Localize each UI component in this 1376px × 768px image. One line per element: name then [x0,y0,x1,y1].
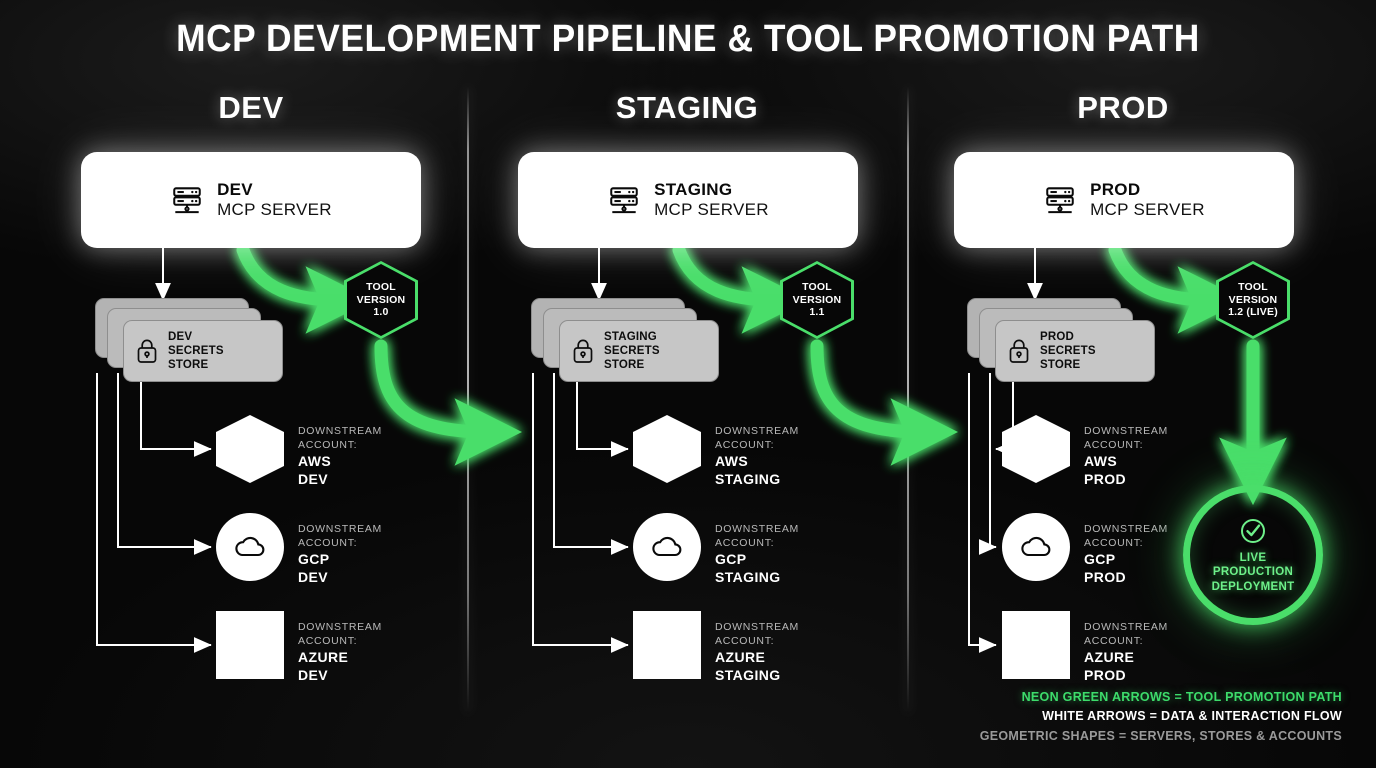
caption-line-2: ACCOUNT: [715,537,799,551]
caption-line-2: ACCOUNT: [298,537,382,551]
account-env: PROD [1084,666,1168,684]
server-card-staging[interactable]: STAGING MCP SERVER [518,152,858,248]
caption-line-1: DOWNSTREAM [1084,523,1168,537]
caption-line-2: ACCOUNT: [1084,537,1168,551]
secrets-line-3: STORE [1040,358,1096,372]
secrets-store-label: STAGING SECRETS STORE [604,330,660,373]
account-provider: AZURE [715,648,799,666]
diagram-canvas: MCP DEVELOPMENT PIPELINE & TOOL PROMOTIO… [0,0,1376,768]
tool-line-1: TOOL [366,281,396,293]
column-divider-1 [467,86,469,714]
account-env: DEV [298,568,382,586]
server-rack-icon [1043,183,1077,217]
account-env: PROD [1084,470,1168,488]
account-caption: DOWNSTREAM ACCOUNT: AZURE DEV [298,621,382,685]
tool-line-1: TOOL [1238,281,1268,293]
caption-line-1: DOWNSTREAM [715,523,799,537]
secrets-line-2: SECRETS [1040,344,1096,358]
tool-line-2: VERSION [793,294,842,306]
caption-line-2: ACCOUNT: [1084,439,1168,453]
caption-line-2: ACCOUNT: [715,635,799,649]
server-rack-icon [607,183,641,217]
account-caption: DOWNSTREAM ACCOUNT: GCP STAGING [715,523,799,587]
secrets-store-prod[interactable]: PROD SECRETS STORE [967,298,1157,384]
caption-line-1: DOWNSTREAM [1084,621,1168,635]
account-caption: DOWNSTREAM ACCOUNT: GCP PROD [1084,523,1168,587]
secrets-card-front: PROD SECRETS STORE [995,320,1155,382]
secrets-line-3: STORE [168,358,224,372]
secrets-line-2: SECRETS [168,344,224,358]
column-divider-2 [907,86,909,714]
secrets-line-1: STAGING [604,330,660,344]
account-provider: GCP [298,550,382,568]
tool-version-staging[interactable]: TOOL VERSION 1.1 [780,261,854,339]
check-circle-icon [1238,516,1268,546]
aws-hexagon-icon [216,415,284,483]
server-card-subtitle: MCP SERVER [654,200,769,220]
secrets-store-staging[interactable]: STAGING SECRETS STORE [531,298,721,384]
secrets-card-front: STAGING SECRETS STORE [559,320,719,382]
server-card-dev[interactable]: DEV MCP SERVER [81,152,421,248]
azure-square-icon [1002,611,1070,679]
secrets-card-front: DEV SECRETS STORE [123,320,283,382]
caption-line-1: DOWNSTREAM [298,425,382,439]
account-caption: DOWNSTREAM ACCOUNT: AWS PROD [1084,425,1168,489]
account-caption: DOWNSTREAM ACCOUNT: AWS STAGING [715,425,799,489]
tool-version-number: 1.1 [809,306,824,318]
aws-hexagon-icon [633,415,701,483]
caption-line-1: DOWNSTREAM [298,523,382,537]
secrets-line-2: SECRETS [604,344,660,358]
secrets-store-dev[interactable]: DEV SECRETS STORE [95,298,285,384]
account-provider: AZURE [298,648,382,666]
server-card-title: DEV [217,180,332,200]
account-caption: DOWNSTREAM ACCOUNT: AZURE STAGING [715,621,799,685]
cloud-glyph [650,534,684,560]
tool-version-dev[interactable]: TOOL VERSION 1.0 [344,261,418,339]
account-provider: AWS [298,452,382,470]
lock-icon [135,338,159,364]
server-rack-icon [170,183,204,217]
azure-square-icon [216,611,284,679]
tool-line-2: VERSION [1229,294,1278,306]
secrets-store-label: PROD SECRETS STORE [1040,330,1096,373]
live-production-deployment-badge[interactable]: LIVE PRODUCTION DEPLOYMENT [1183,485,1323,625]
account-provider: GCP [1084,550,1168,568]
server-card-subtitle: MCP SERVER [217,200,332,220]
live-line-2: PRODUCTION [1213,565,1293,579]
account-caption: DOWNSTREAM ACCOUNT: GCP DEV [298,523,382,587]
legend-item-shapes: GEOMETRIC SHAPES = SERVERS, STORES & ACC… [980,727,1342,746]
secrets-line-1: DEV [168,330,224,344]
tool-line-2: VERSION [357,294,406,306]
gcp-cloud-icon [1002,513,1070,581]
caption-line-2: ACCOUNT: [298,635,382,649]
caption-line-2: ACCOUNT: [298,439,382,453]
caption-line-1: DOWNSTREAM [715,425,799,439]
account-provider: AWS [715,452,799,470]
account-env: STAGING [715,568,799,586]
legend: NEON GREEN ARROWS = TOOL PROMOTION PATH … [980,688,1342,746]
secrets-store-label: DEV SECRETS STORE [168,330,224,373]
tool-version-number: 1.2 (LIVE) [1228,306,1278,318]
server-card-title: STAGING [654,180,769,200]
cloud-glyph [233,534,267,560]
column-header-dev: DEV [101,90,401,126]
account-env: STAGING [715,666,799,684]
lock-icon [571,338,595,364]
tool-version-prod[interactable]: TOOL VERSION 1.2 (LIVE) [1216,261,1290,339]
live-line-1: LIVE [1240,551,1267,565]
secrets-line-1: PROD [1040,330,1096,344]
gcp-cloud-icon [216,513,284,581]
account-env: STAGING [715,470,799,488]
lock-icon [1007,338,1031,364]
account-env: DEV [298,470,382,488]
caption-line-1: DOWNSTREAM [1084,425,1168,439]
server-card-title: PROD [1090,180,1205,200]
caption-line-2: ACCOUNT: [1084,635,1168,649]
tool-line-1: TOOL [802,281,832,293]
caption-line-2: ACCOUNT: [715,439,799,453]
account-env: PROD [1084,568,1168,586]
server-card-prod[interactable]: PROD MCP SERVER [954,152,1294,248]
account-provider: AZURE [1084,648,1168,666]
account-provider: AWS [1084,452,1168,470]
account-provider: GCP [715,550,799,568]
account-caption: DOWNSTREAM ACCOUNT: AZURE PROD [1084,621,1168,685]
column-header-prod: PROD [973,90,1273,126]
caption-line-1: DOWNSTREAM [715,621,799,635]
tool-version-number: 1.0 [373,306,388,318]
page-title: MCP DEVELOPMENT PIPELINE & TOOL PROMOTIO… [48,18,1328,61]
caption-line-1: DOWNSTREAM [298,621,382,635]
column-header-staging: STAGING [537,90,837,126]
account-caption: DOWNSTREAM ACCOUNT: AWS DEV [298,425,382,489]
gcp-cloud-icon [633,513,701,581]
aws-hexagon-icon [1002,415,1070,483]
live-line-3: DEPLOYMENT [1212,580,1295,594]
server-card-subtitle: MCP SERVER [1090,200,1205,220]
legend-item-green-arrows: NEON GREEN ARROWS = TOOL PROMOTION PATH [980,688,1342,707]
account-env: DEV [298,666,382,684]
azure-square-icon [633,611,701,679]
cloud-glyph [1019,534,1053,560]
legend-item-white-arrows: WHITE ARROWS = DATA & INTERACTION FLOW [980,707,1342,726]
secrets-line-3: STORE [604,358,660,372]
